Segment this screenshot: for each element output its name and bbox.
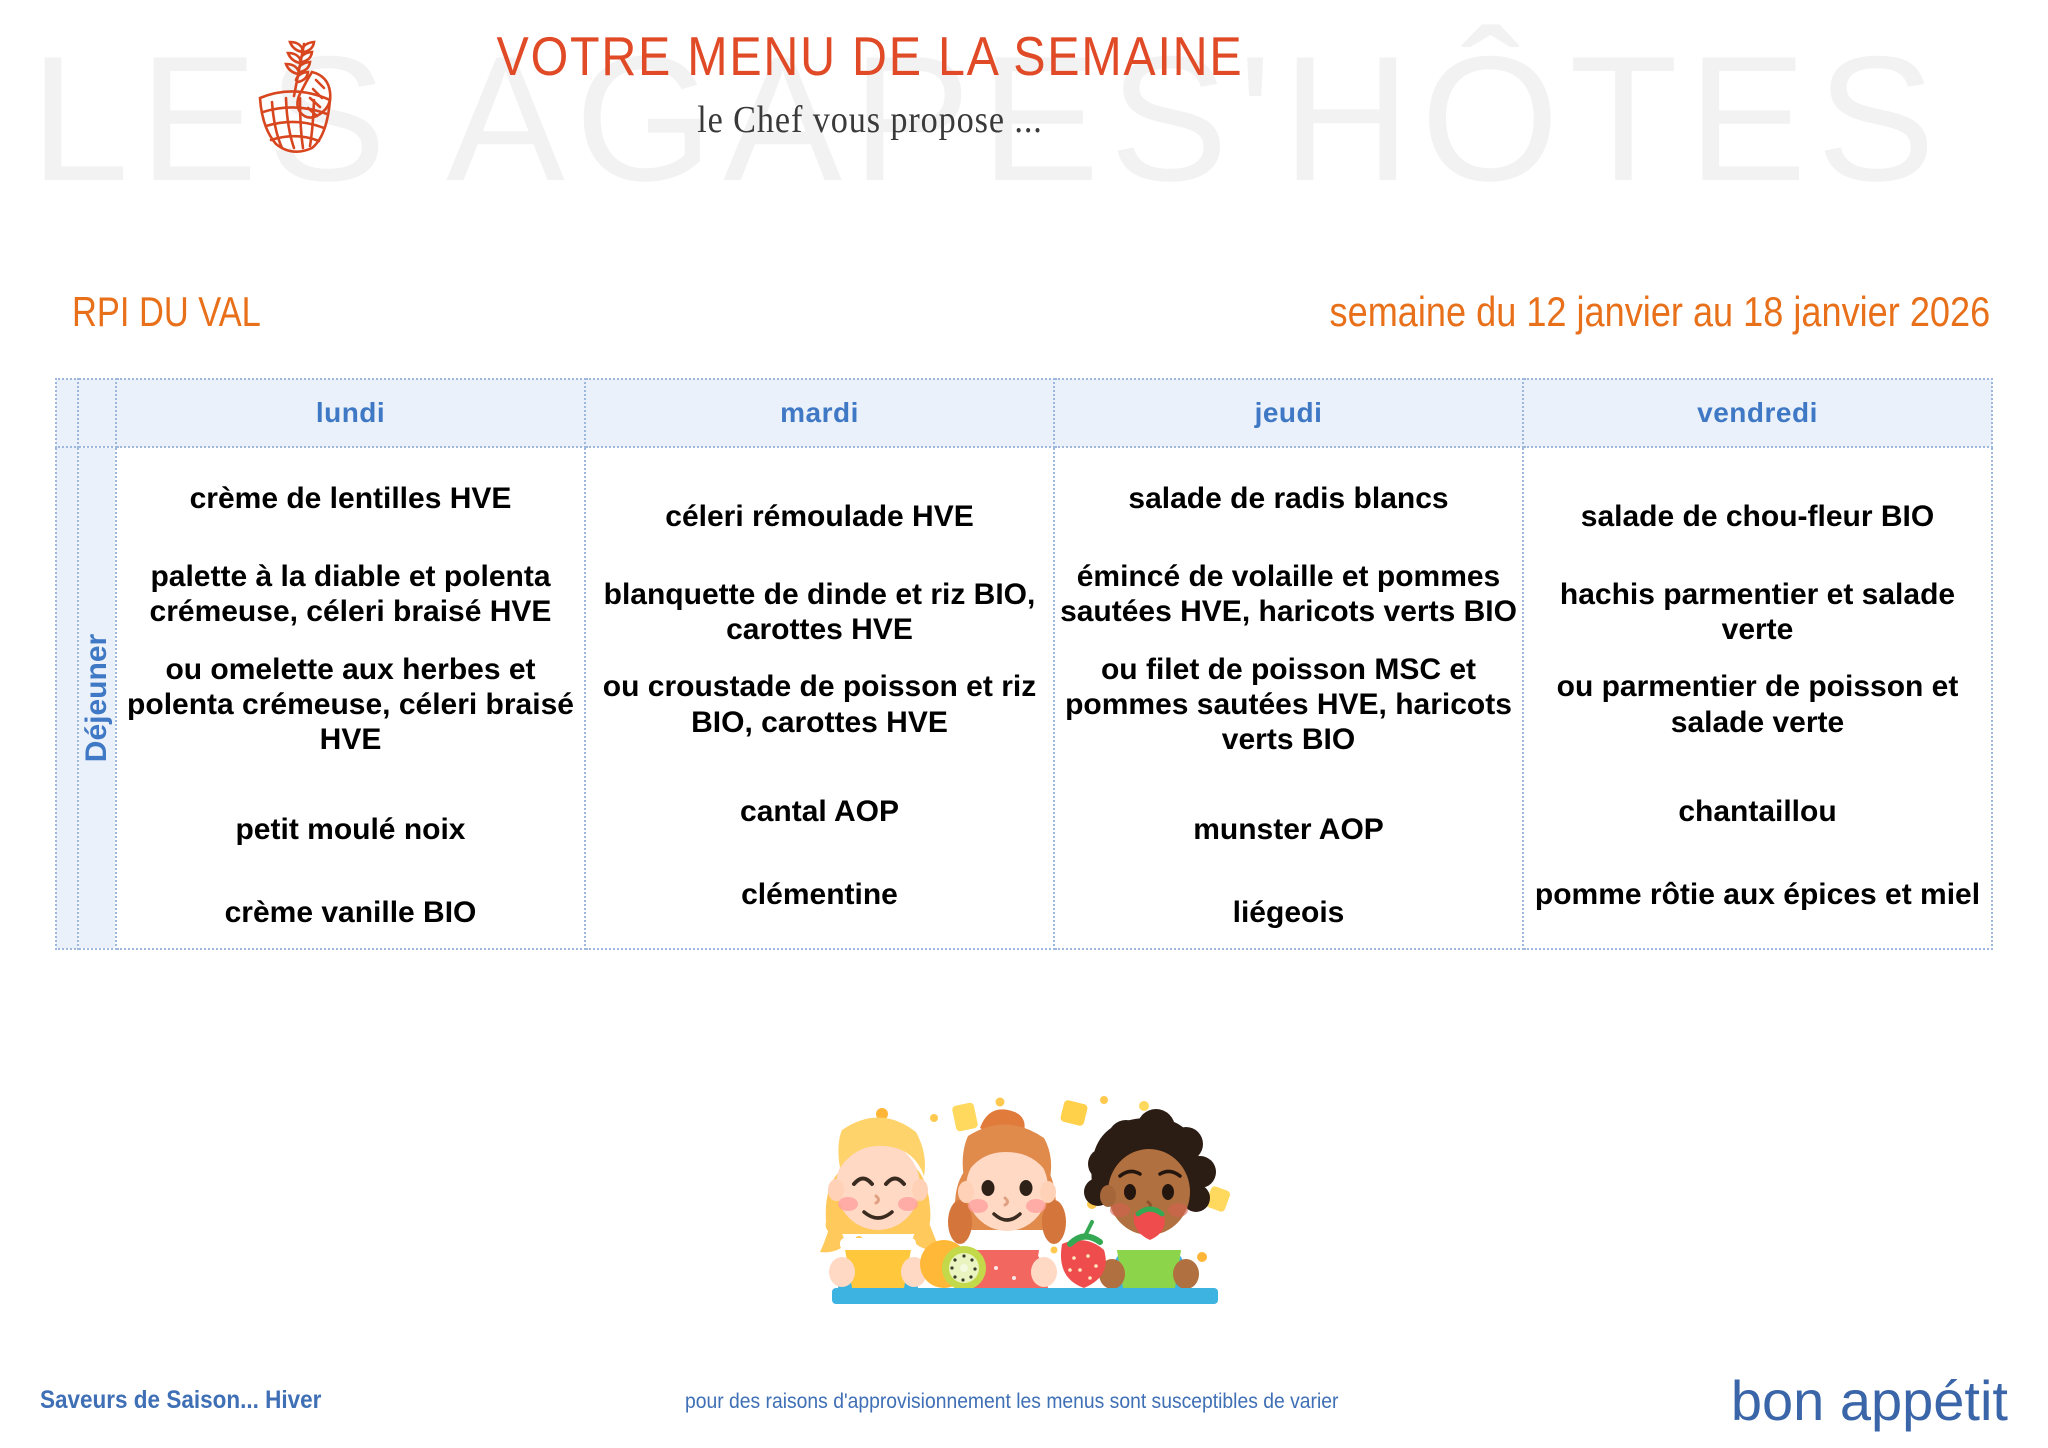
- dish-dessert: pomme rôtie aux épices et miel: [1524, 877, 1991, 912]
- day-header-vendredi: vendredi: [1523, 379, 1992, 447]
- dish-dessert: liégeois: [1055, 895, 1522, 930]
- meta-row: RPI DU VAL semaine du 12 janvier au 18 j…: [0, 288, 2048, 348]
- dish-cheese: munster AOP: [1055, 812, 1522, 847]
- spine-stripe: [56, 447, 78, 949]
- dish-alternative: ou croustade de poisson et riz BIO, caro…: [586, 669, 1053, 740]
- menu-cell-lundi: crème de lentilles HVE palette à la diab…: [116, 447, 585, 949]
- dish-starter: céleri rémoulade HVE: [586, 499, 1053, 534]
- menu-cell-mardi: céleri rémoulade HVE blanquette de dinde…: [585, 447, 1054, 949]
- dish-alternative: ou omelette aux herbes et polenta crémeu…: [117, 652, 584, 758]
- table-header-row: lundi mardi jeudi vendredi: [56, 379, 1992, 447]
- dish-dessert: clémentine: [586, 877, 1053, 912]
- spine-corner-b: [78, 379, 116, 447]
- table-row-dejeuner: Déjeuner crème de lentilles HVE palette …: [56, 447, 1992, 949]
- header-title-block: VOTRE MENU DE LA SEMAINE le Chef vous pr…: [420, 28, 1320, 142]
- dish-starter: salade de radis blancs: [1055, 481, 1522, 516]
- dish-cheese: petit moulé noix: [117, 812, 584, 847]
- week-range: semaine du 12 janvier au 18 janvier 2026: [1329, 288, 1990, 336]
- dish-main: émincé de volaille et pommes sautées HVE…: [1055, 559, 1522, 630]
- dish-starter: crème de lentilles HVE: [117, 481, 584, 516]
- site-name: RPI DU VAL: [72, 288, 261, 336]
- dish-main: hachis parmentier et salade verte: [1524, 577, 1991, 648]
- season-note: Saveurs de Saison... Hiver: [40, 1386, 321, 1415]
- page-header: VOTRE MENU DE LA SEMAINE le Chef vous pr…: [0, 18, 2048, 188]
- page-subtitle: le Chef vous propose ...: [465, 98, 1275, 142]
- dish-list: salade de chou-fleur BIO hachis parmenti…: [1524, 483, 1991, 913]
- dish-cheese: chantaillou: [1524, 794, 1991, 829]
- dish-cheese: cantal AOP: [586, 794, 1053, 829]
- spine-corner-a: [56, 379, 78, 447]
- dish-main: palette à la diable et polenta crémeuse,…: [117, 559, 584, 630]
- dish-starter: salade de chou-fleur BIO: [1524, 499, 1991, 534]
- day-header-lundi: lundi: [116, 379, 585, 447]
- dish-list: crème de lentilles HVE palette à la diab…: [117, 465, 584, 930]
- dish-list: salade de radis blancs émincé de volaill…: [1055, 465, 1522, 930]
- menu-table: lundi mardi jeudi vendredi Déjeuner crèm…: [55, 378, 1993, 950]
- three-children-eating-fruit-illustration: [804, 1092, 1244, 1307]
- dish-dessert: crème vanille BIO: [117, 895, 584, 930]
- dish-main: blanquette de dinde et riz BIO, carottes…: [586, 577, 1053, 648]
- day-header-mardi: mardi: [585, 379, 1054, 447]
- menu-table-container: lundi mardi jeudi vendredi Déjeuner crèm…: [55, 378, 1991, 950]
- day-header-jeudi: jeudi: [1054, 379, 1523, 447]
- dish-list: céleri rémoulade HVE blanquette de dinde…: [586, 483, 1053, 913]
- page-title: VOTRE MENU DE LA SEMAINE: [474, 28, 1266, 86]
- supply-disclaimer: pour des raisons d'approvisionnement les…: [685, 1390, 1338, 1414]
- page-footer: Saveurs de Saison... Hiver pour des rais…: [0, 1368, 2048, 1438]
- bon-appetit-text: bon appétit: [1731, 1368, 2008, 1433]
- menu-cell-vendredi: salade de chou-fleur BIO hachis parmenti…: [1523, 447, 1992, 949]
- bread-basket-icon: [238, 36, 368, 166]
- meal-label-cell: Déjeuner: [78, 447, 116, 949]
- meal-label-dejeuner: Déjeuner: [80, 634, 114, 762]
- menu-cell-jeudi: salade de radis blancs émincé de volaill…: [1054, 447, 1523, 949]
- dish-alternative: ou filet de poisson MSC et pommes sautée…: [1055, 652, 1522, 758]
- dish-alternative: ou parmentier de poisson et salade verte: [1524, 669, 1991, 740]
